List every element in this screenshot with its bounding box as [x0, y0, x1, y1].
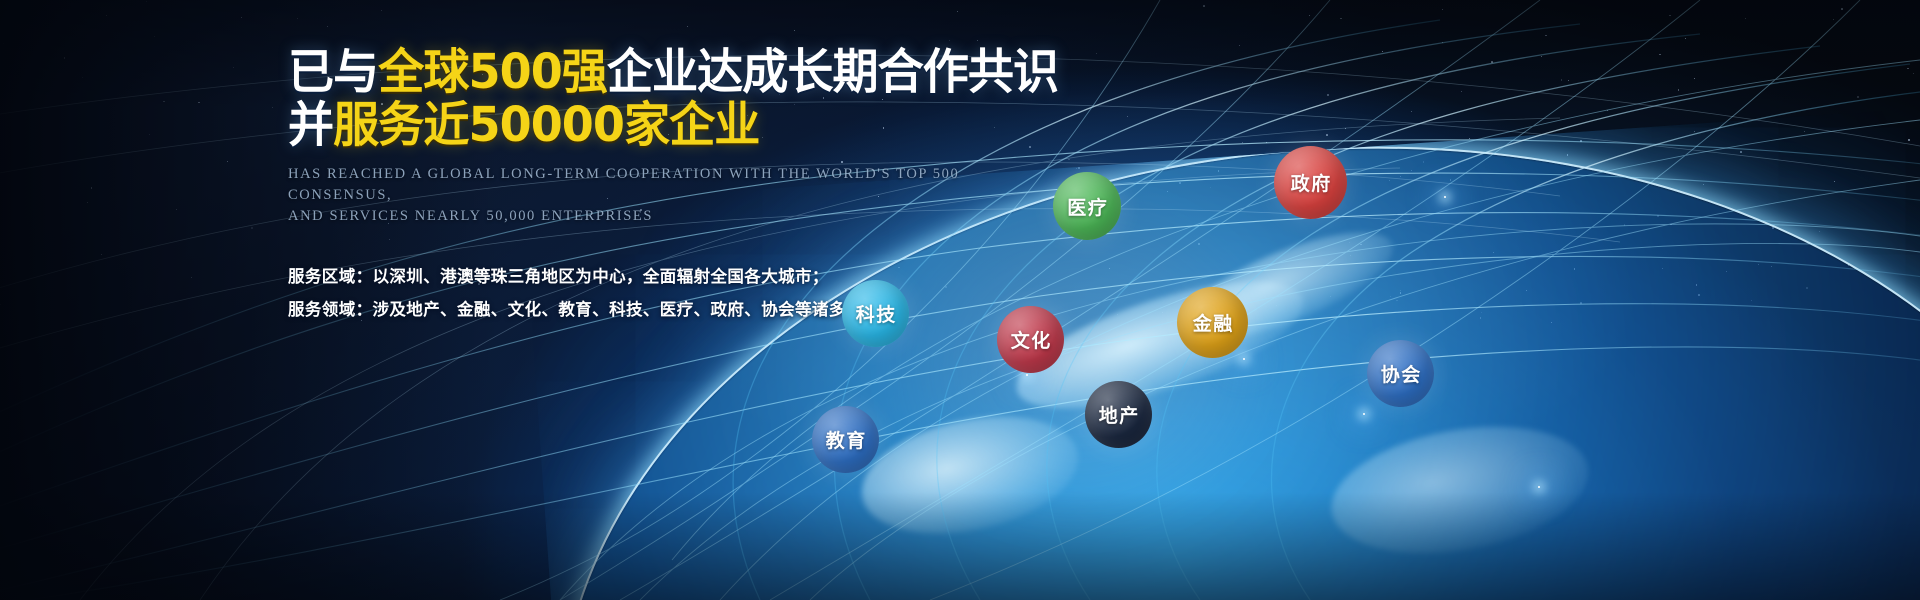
industry-bubble-label: 教育	[824, 426, 867, 453]
service-area-line: 服务区域：以深圳、港澳等珠三角地区为中心，全面辐射全国各大城市；	[288, 261, 1048, 294]
promo-banner: 已与全球500强企业达成长期合作共识 并服务近50000家企业 HAS REAC…	[0, 0, 1920, 600]
service-field-line: 服务领域：涉及地产、金融、文化、教育、科技、医疗、政府、协会等诸多领域。	[288, 294, 1048, 327]
light-flare	[1363, 413, 1365, 415]
headline-2-seg-2: 服务近50000家企业	[333, 97, 759, 153]
industry-bubble-label: 金融	[1191, 309, 1234, 336]
light-flare	[1444, 196, 1446, 198]
industry-bubble[interactable]: 文化	[997, 306, 1064, 373]
industry-bubble[interactable]: 协会	[1367, 340, 1434, 407]
industry-bubble[interactable]: 科技	[842, 280, 909, 347]
industry-bubble-label: 医疗	[1066, 193, 1109, 220]
light-flare	[1243, 358, 1245, 360]
headline-1-seg-1: 已与	[288, 44, 378, 100]
service-description: 服务区域：以深圳、港澳等珠三角地区为中心，全面辐射全国各大城市； 服务领域：涉及…	[288, 261, 1048, 327]
headline-1-seg-2: 全球500强	[378, 44, 607, 100]
industry-bubble-label: 文化	[1009, 326, 1052, 353]
english-subtitle-line-1: HAS REACHED A GLOBAL LONG-TERM COOPERATI…	[288, 164, 1048, 206]
industry-bubble[interactable]: 医疗	[1053, 172, 1121, 240]
headline-line-2: 并服务近50000家企业	[288, 101, 1018, 150]
industry-bubble-label: 协会	[1379, 360, 1422, 387]
industry-bubble-label: 政府	[1289, 169, 1332, 196]
headline-line-1: 已与全球500强企业达成长期合作共识	[288, 48, 1018, 97]
industry-bubble[interactable]: 政府	[1274, 146, 1347, 219]
industry-bubble[interactable]: 金融	[1177, 287, 1248, 358]
industry-bubble-label: 科技	[854, 300, 897, 327]
headline-copy-block: 已与全球500强企业达成长期合作共识 并服务近50000家企业 HAS REAC…	[288, 48, 1048, 327]
industry-bubble[interactable]: 教育	[812, 406, 879, 473]
industry-bubble-label: 地产	[1097, 401, 1140, 428]
english-subtitle: HAS REACHED A GLOBAL LONG-TERM COOPERATI…	[288, 164, 1048, 227]
headline-2-seg-1: 并	[288, 97, 333, 153]
light-flare	[1026, 374, 1028, 376]
light-flare	[1538, 486, 1540, 488]
headline-1-seg-3: 企业达成长期合作共识	[607, 44, 1058, 100]
english-subtitle-line-2: AND SERVICES NEARLY 50,000 ENTERPRISES	[288, 206, 1048, 227]
industry-bubble[interactable]: 地产	[1085, 381, 1152, 448]
